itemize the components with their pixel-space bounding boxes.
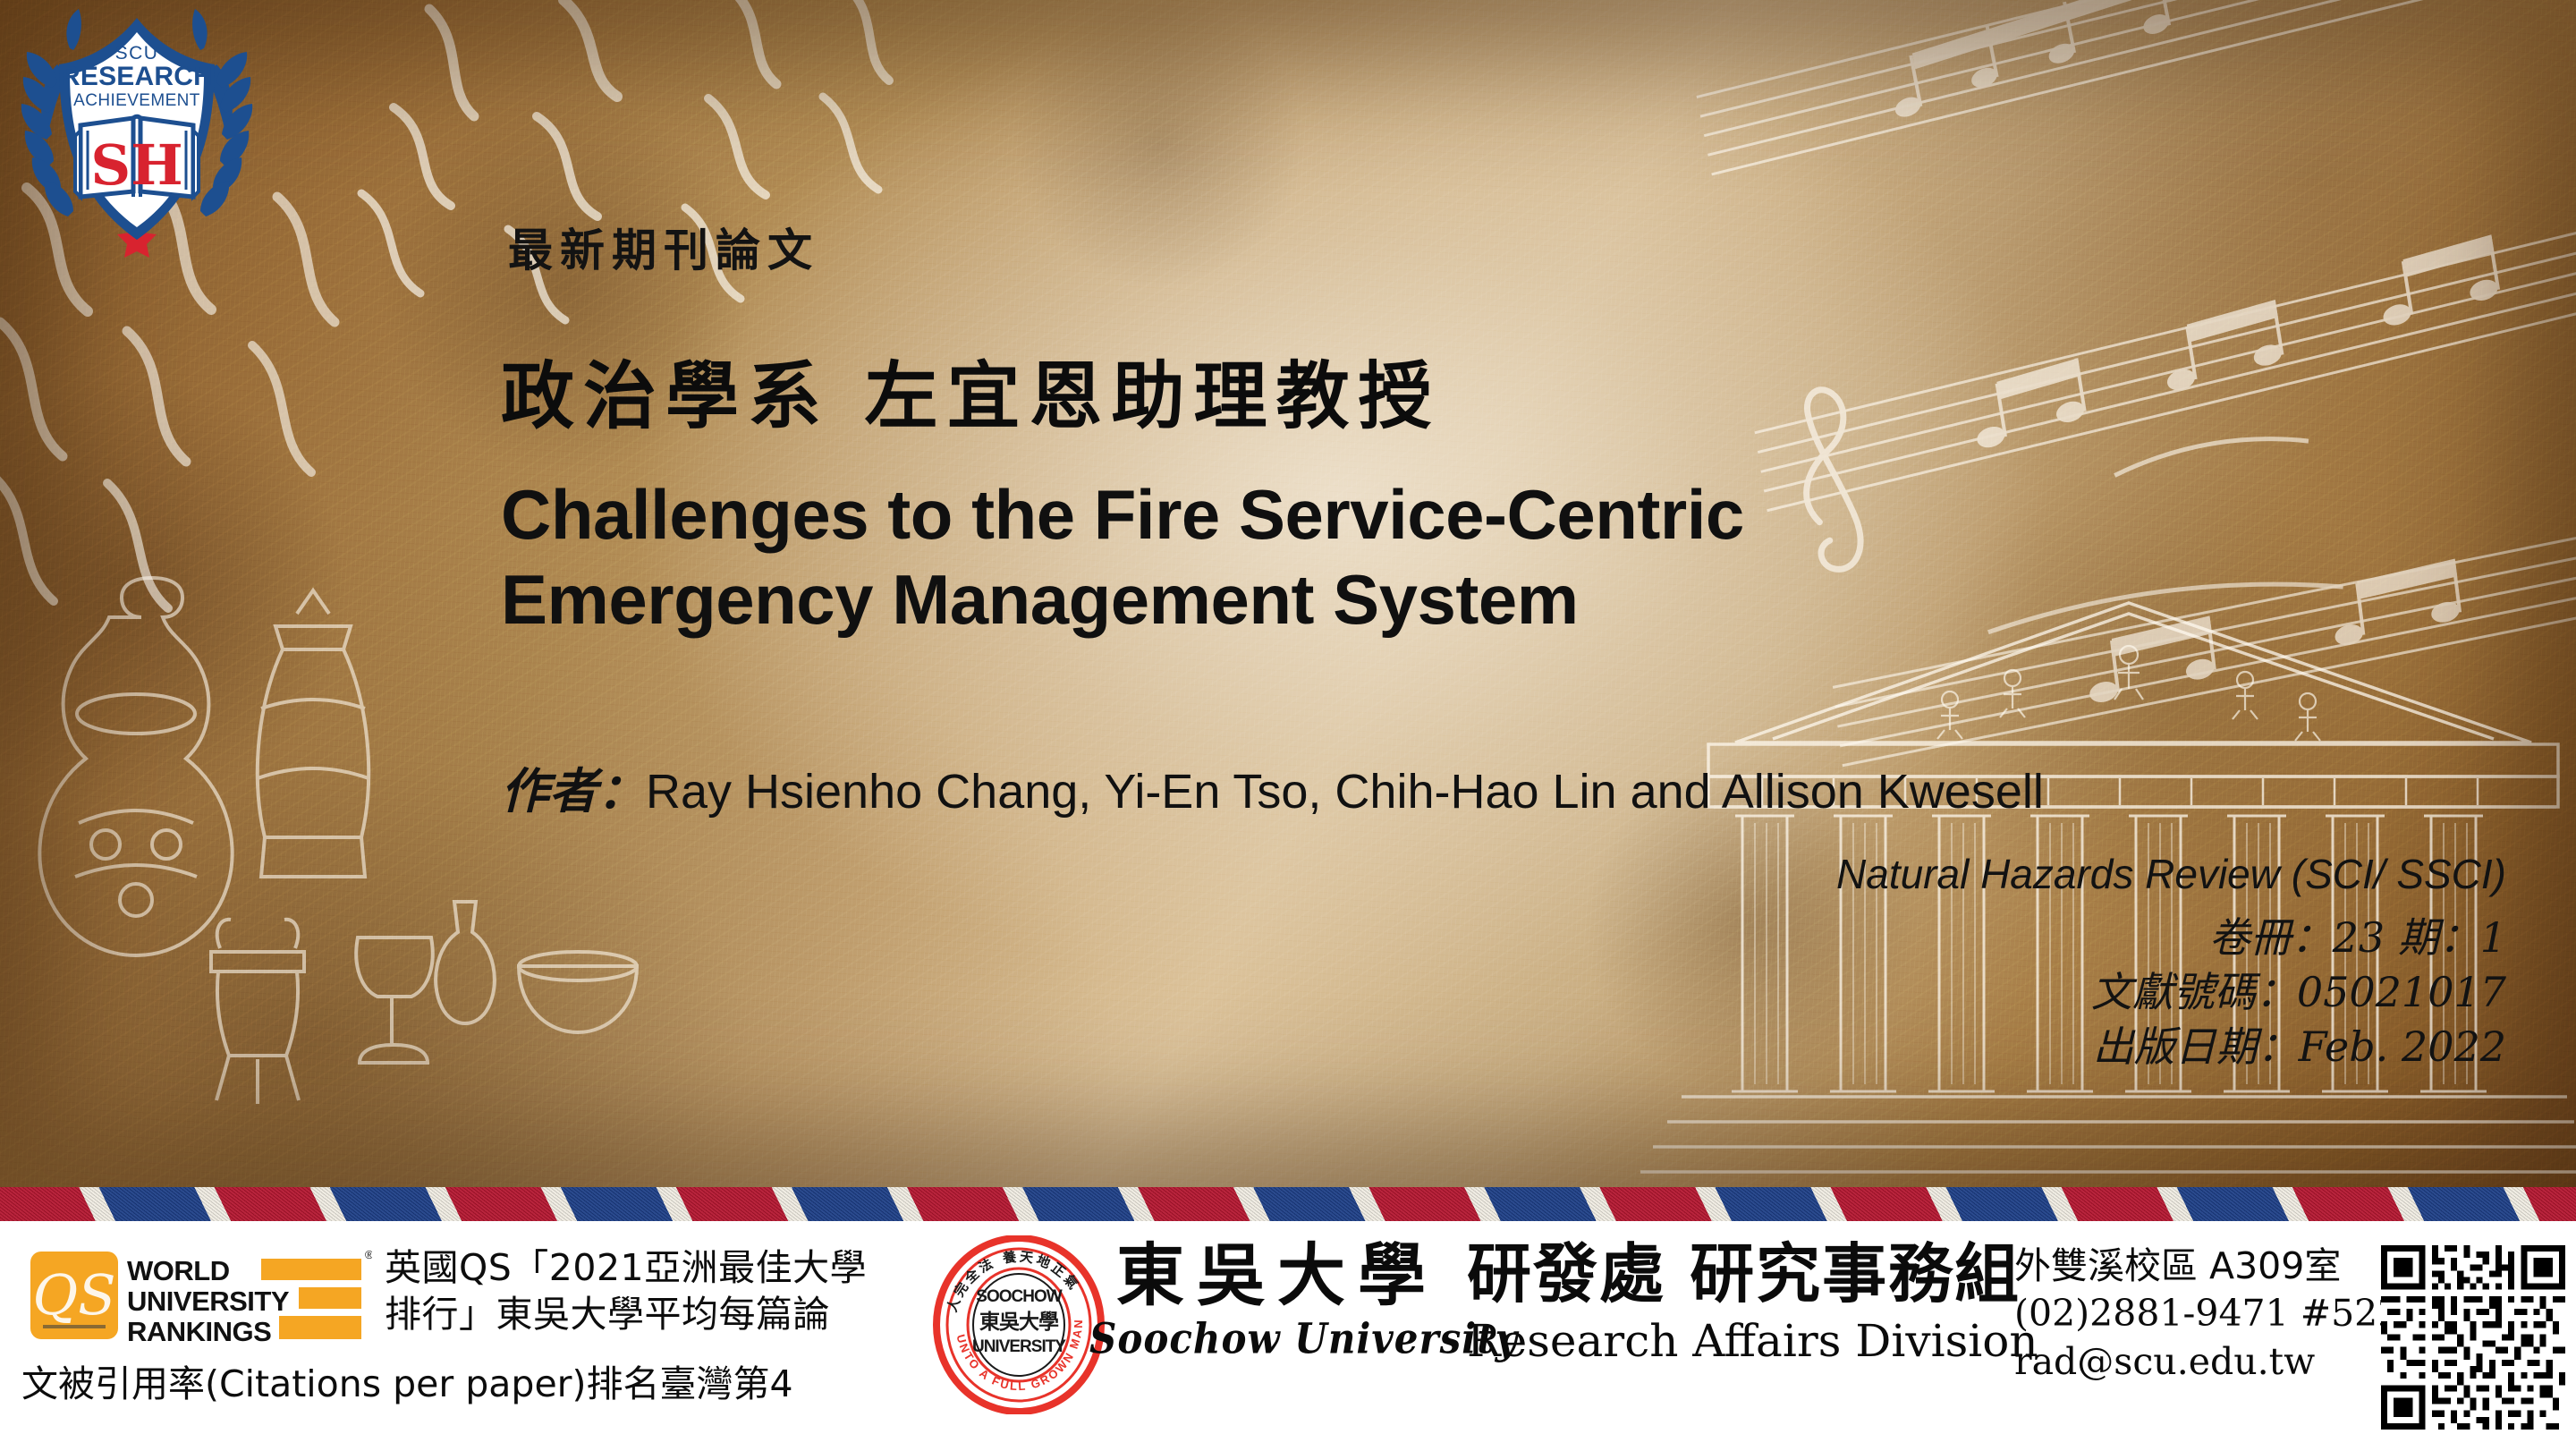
ribbon-texture: [0, 1187, 2576, 1221]
division-name-cn: 研發處 研究事務組: [1467, 1239, 2004, 1310]
poster-root: SCU RESEARCH ACHIEVEMENT SH 最新期刊論文 政治學系 …: [0, 0, 2576, 1451]
qs-logo-line2: UNIVERSITY: [127, 1286, 290, 1317]
authors-names: Ray Hsienho Chang, Yi-En Tso, Chih-Hao L…: [646, 765, 2044, 819]
qs-logo-mark: QS: [32, 1262, 115, 1328]
authors-label: 作者：: [501, 762, 646, 819]
university-name-cn: 東吳大學: [1089, 1239, 1465, 1312]
journal-volume-issue: 卷冊：23 期：1: [1836, 911, 2506, 965]
seal-en-top: SOOCHOW: [976, 1287, 1062, 1306]
qs-logo-line3: RANKINGS: [127, 1316, 271, 1345]
footer-bar: QS WORLD UNIVERSITY RANKINGS ® 英國QS「2021…: [0, 1221, 2576, 1451]
kicker-label: 最新期刊論文: [508, 215, 819, 279]
qs-caption-top: 英國QS「2021亞洲最佳大學 排行」東吳大學平均每篇論: [385, 1244, 903, 1338]
journal-publish-date: 出版日期：Feb. 2022: [1836, 1020, 2506, 1074]
journal-info-block: Natural Hazards Review (SCI/ SSCI) 卷冊：23…: [1836, 850, 2506, 1075]
qs-caption-line1: 英國QS「2021亞洲最佳大學: [385, 1244, 903, 1291]
journal-name: Natural Hazards Review (SCI/ SSCI): [1836, 850, 2506, 898]
university-name-block: 東吳大學 Soochow University: [1089, 1239, 1465, 1358]
qr-code-icon[interactable]: [2381, 1245, 2565, 1430]
qs-world-university-rankings-logo: QS WORLD UNIVERSITY RANKINGS ®: [30, 1248, 372, 1345]
qs-registered-mark: ®: [365, 1248, 372, 1261]
division-name-block: 研發處 研究事務組 Research Affairs Division: [1467, 1239, 2004, 1367]
soochow-university-seal-icon: 人完全法 養天地正氣 UNTO A FULL GROWN MAN SOOCHOW…: [930, 1235, 1107, 1414]
authors-line: 作者：Ray Hsienho Chang, Yi-En Tso, Chih-Ha…: [501, 751, 2044, 822]
qs-ranking-block: QS WORLD UNIVERSITY RANKINGS ® 英國QS「2021…: [16, 1241, 911, 1433]
seal-en-bottom: UNIVERSITY: [972, 1337, 1066, 1356]
ribbon-divider: [0, 1187, 2576, 1221]
qs-logo-line1: WORLD: [127, 1255, 230, 1286]
seal-inner-cn: 東吳大學: [979, 1310, 1059, 1334]
journal-article-number: 文獻號碼：05021017: [1836, 965, 2506, 1020]
qs-caption-line3: 文被引用率(Citations per paper)排名臺灣第4: [21, 1362, 916, 1406]
university-name-en: Soochow University: [1089, 1314, 1465, 1363]
paper-title: Challenges to the Fire Service-Centric E…: [501, 472, 2075, 642]
hero-content: 最新期刊論文 政治學系 左宜恩助理教授 Challenges to the Fi…: [0, 0, 2576, 1187]
qs-caption-line2: 排行」東吳大學平均每篇論: [385, 1291, 903, 1337]
department-author-line: 政治學系 左宜恩助理教授: [501, 336, 1441, 443]
division-name-en: Research Affairs Division: [1467, 1315, 2004, 1367]
